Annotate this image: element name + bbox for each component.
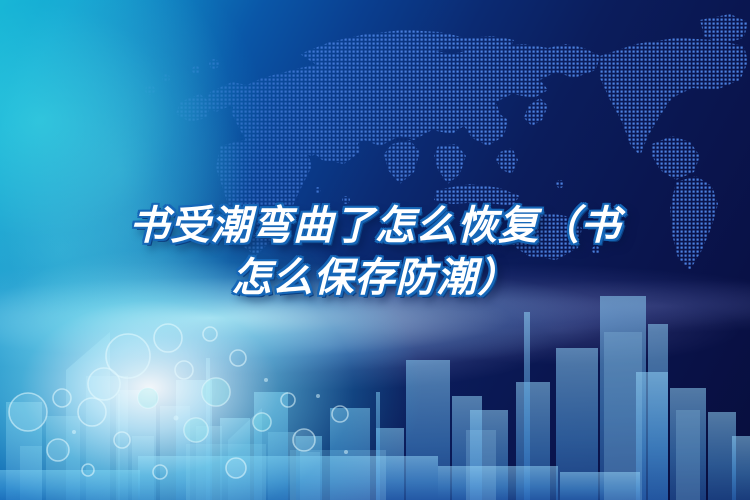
title-line-2: 怎么保存防潮） xyxy=(28,252,722,304)
title-line-1: 书受潮弯曲了怎么恢复（书 xyxy=(28,200,722,252)
banner-image: 书受潮弯曲了怎么恢复（书 怎么保存防潮） xyxy=(0,0,750,500)
banner-title: 书受潮弯曲了怎么恢复（书 怎么保存防潮） xyxy=(0,200,750,304)
